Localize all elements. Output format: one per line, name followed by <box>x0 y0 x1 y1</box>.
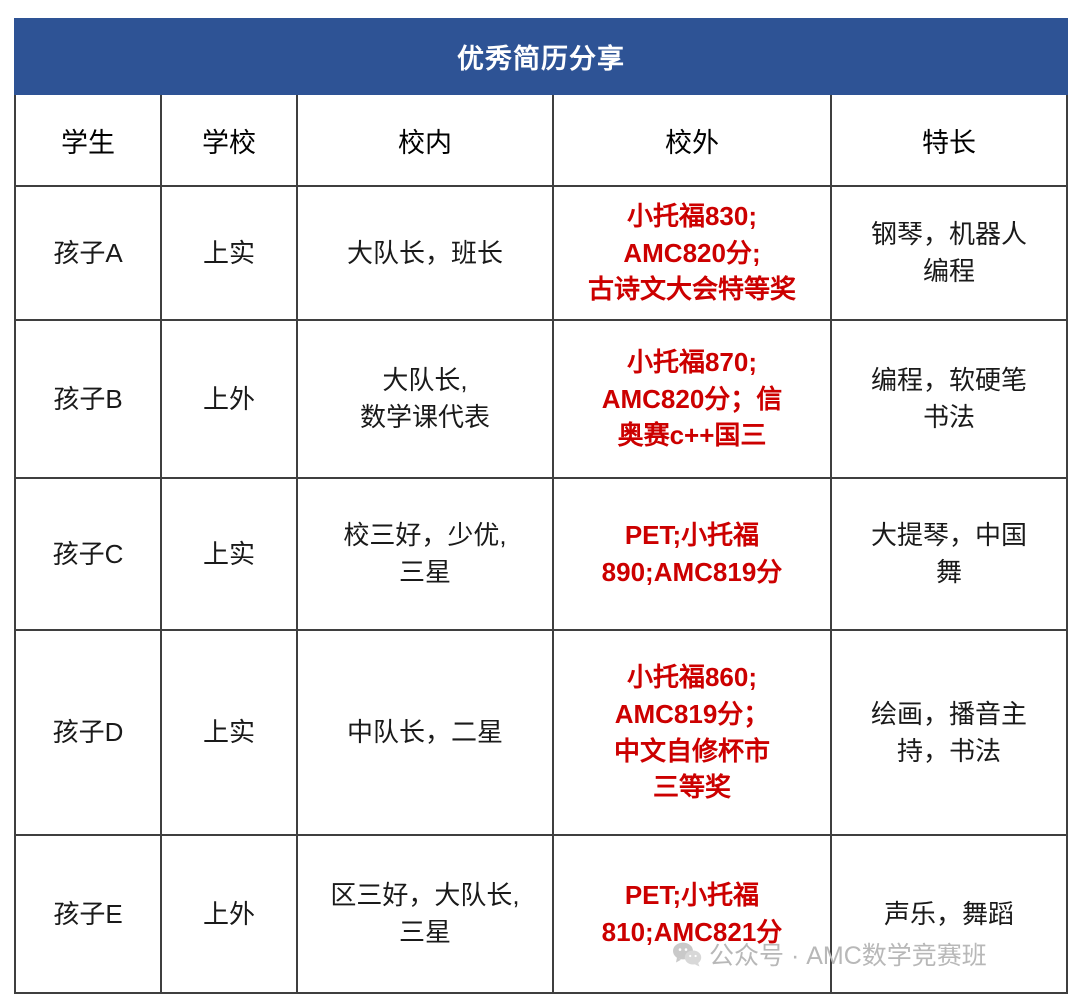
cell-outside: 小托福860; AMC819分； 中文自修杯市 三等奖 <box>553 630 831 835</box>
cell-inside: 大队长，班长 <box>297 186 553 320</box>
cell-school: 上实 <box>161 186 297 320</box>
cell-school: 上实 <box>161 630 297 835</box>
inside-achievements: 大队长, 数学课代表 <box>304 362 546 436</box>
table-row: 孩子D 上实 中队长，二星 小托福860; AMC819分； 中文自修杯市 三等… <box>15 630 1067 835</box>
cell-outside: PET;小托福 890;AMC819分 <box>553 478 831 630</box>
talent-list: 绘画，播音主 持，书法 <box>838 696 1060 770</box>
talent-list: 声乐，舞蹈 <box>838 896 1060 933</box>
outside-achievements: PET;小托福 810;AMC821分 <box>560 877 824 951</box>
column-header-inside: 校内 <box>297 94 553 186</box>
cell-talent: 编程，软硬笔 书法 <box>831 320 1067 478</box>
inside-achievements: 中队长，二星 <box>304 714 546 751</box>
cell-student: 孩子E <box>15 835 161 993</box>
student-name: 孩子C <box>22 536 154 573</box>
inside-achievements: 大队长，班长 <box>304 235 546 272</box>
column-header-school: 学校 <box>161 94 297 186</box>
school-name: 上外 <box>168 381 290 418</box>
student-name: 孩子D <box>22 714 154 751</box>
table-row: 孩子B 上外 大队长, 数学课代表 小托福870; AMC820分；信 奥赛c+… <box>15 320 1067 478</box>
inside-achievements: 校三好，少优, 三星 <box>304 517 546 591</box>
resume-table: 优秀简历分享 学生 学校 校内 校外 特长 孩子A 上实 大队长，班长 小托福8… <box>14 18 1068 994</box>
cell-talent: 大提琴，中国 舞 <box>831 478 1067 630</box>
table-row: 孩子A 上实 大队长，班长 小托福830; AMC820分; 古诗文大会特等奖 … <box>15 186 1067 320</box>
school-name: 上实 <box>168 235 290 272</box>
school-name: 上外 <box>168 896 290 933</box>
table-row: 孩子C 上实 校三好，少优, 三星 PET;小托福 890;AMC819分 大提… <box>15 478 1067 630</box>
column-header-talent: 特长 <box>831 94 1067 186</box>
table-header-row: 学生 学校 校内 校外 特长 <box>15 94 1067 186</box>
student-name: 孩子A <box>22 235 154 272</box>
student-name: 孩子B <box>22 381 154 418</box>
resume-table-sheet: 优秀简历分享 学生 学校 校内 校外 特长 孩子A 上实 大队长，班长 小托福8… <box>14 18 1066 988</box>
cell-talent: 钢琴，机器人 编程 <box>831 186 1067 320</box>
cell-school: 上外 <box>161 835 297 993</box>
cell-school: 上外 <box>161 320 297 478</box>
cell-student: 孩子C <box>15 478 161 630</box>
outside-achievements: 小托福860; AMC819分； 中文自修杯市 三等奖 <box>560 659 824 807</box>
cell-talent: 声乐，舞蹈 <box>831 835 1067 993</box>
cell-outside: 小托福870; AMC820分；信 奥赛c++国三 <box>553 320 831 478</box>
school-name: 上实 <box>168 714 290 751</box>
column-header-outside: 校外 <box>553 94 831 186</box>
cell-talent: 绘画，播音主 持，书法 <box>831 630 1067 835</box>
cell-inside: 区三好，大队长, 三星 <box>297 835 553 993</box>
inside-achievements: 区三好，大队长, 三星 <box>304 877 546 951</box>
table-row: 孩子E 上外 区三好，大队长, 三星 PET;小托福 810;AMC821分 声… <box>15 835 1067 993</box>
cell-student: 孩子A <box>15 186 161 320</box>
cell-student: 孩子B <box>15 320 161 478</box>
student-name: 孩子E <box>22 896 154 933</box>
column-header-student: 学生 <box>15 94 161 186</box>
cell-school: 上实 <box>161 478 297 630</box>
talent-list: 大提琴，中国 舞 <box>838 517 1060 591</box>
cell-inside: 中队长，二星 <box>297 630 553 835</box>
outside-achievements: PET;小托福 890;AMC819分 <box>560 517 824 591</box>
outside-achievements: 小托福830; AMC820分; 古诗文大会特等奖 <box>560 198 824 309</box>
school-name: 上实 <box>168 536 290 573</box>
cell-inside: 大队长, 数学课代表 <box>297 320 553 478</box>
cell-student: 孩子D <box>15 630 161 835</box>
cell-inside: 校三好，少优, 三星 <box>297 478 553 630</box>
cell-outside: PET;小托福 810;AMC821分 <box>553 835 831 993</box>
talent-list: 钢琴，机器人 编程 <box>838 216 1060 290</box>
page-title: 优秀简历分享 <box>15 19 1067 94</box>
cell-outside: 小托福830; AMC820分; 古诗文大会特等奖 <box>553 186 831 320</box>
outside-achievements: 小托福870; AMC820分；信 奥赛c++国三 <box>560 344 824 455</box>
title-row: 优秀简历分享 <box>15 19 1067 94</box>
talent-list: 编程，软硬笔 书法 <box>838 362 1060 436</box>
